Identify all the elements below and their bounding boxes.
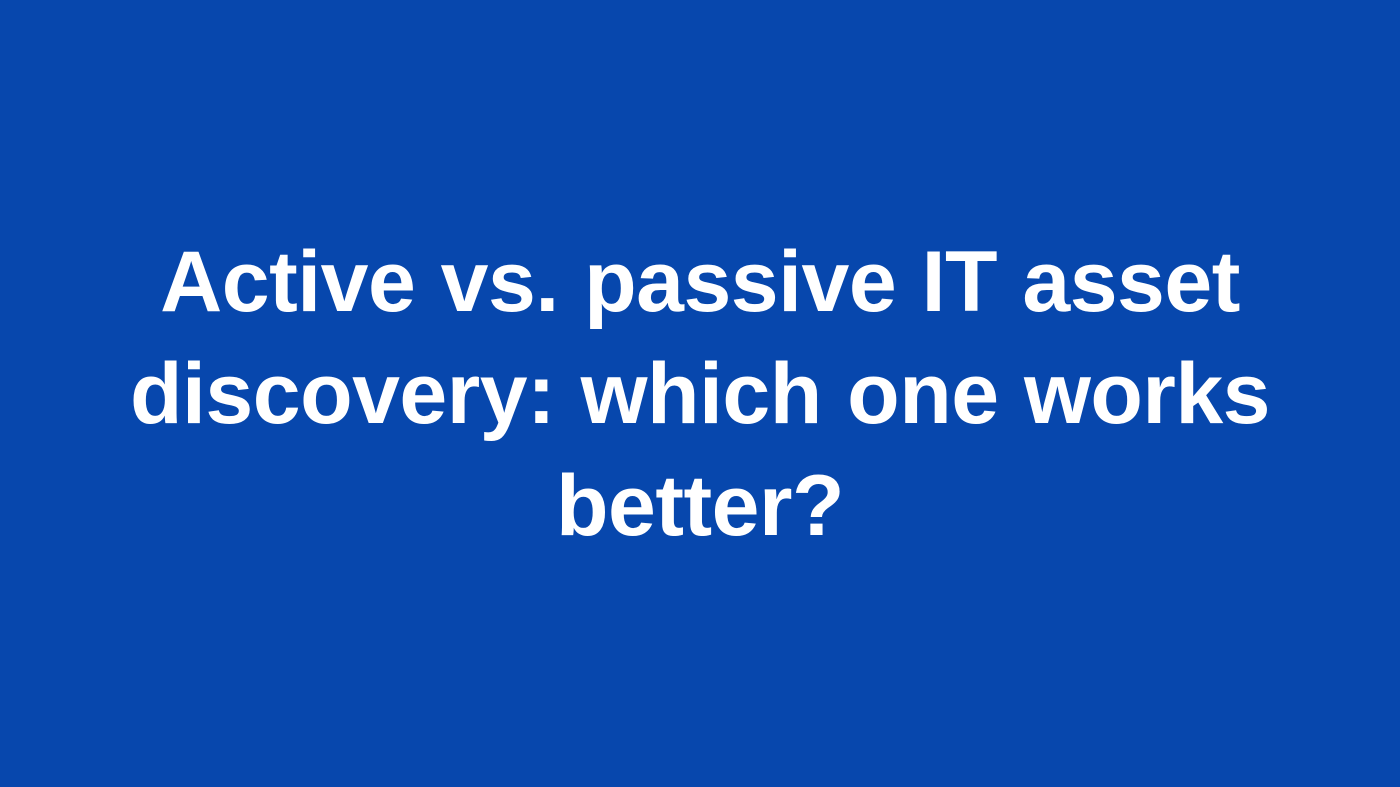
hero-banner: Active vs. passive IT asset discovery: w…	[0, 0, 1400, 787]
page-title: Active vs. passive IT asset discovery: w…	[0, 226, 1400, 562]
